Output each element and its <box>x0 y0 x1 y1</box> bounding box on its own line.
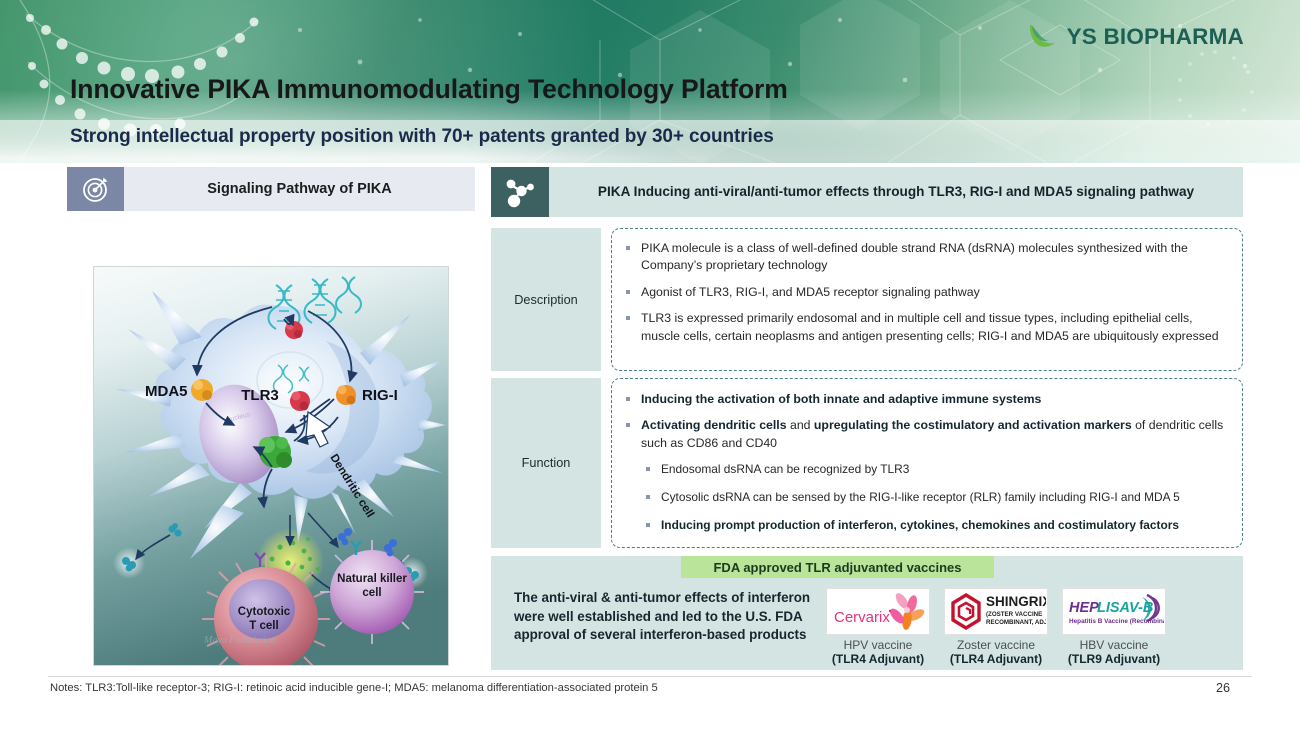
svg-text:(ZOSTER VACCINE: (ZOSTER VACCINE <box>986 611 1042 618</box>
shingrix-logo-icon: SHINGRIX (ZOSTER VACCINE RECOMBINANT, AD… <box>946 589 1046 634</box>
page-subtitle: Strong intellectual property position wi… <box>70 126 774 148</box>
left-panel-title-bar: Signaling Pathway of PIKA <box>124 167 475 211</box>
heplisav-logo: HEP LISAV-B Hepatitis B Vaccine (Recombi… <box>1062 588 1166 635</box>
diagram-label-nk-2: cell <box>362 587 381 599</box>
slide: Innovative PIKA Immunomodulating Technol… <box>0 0 1300 729</box>
molecule-icon <box>503 176 537 208</box>
page-number: 26 <box>1216 681 1230 695</box>
brand-logo: YS BIOPHARMA <box>1026 22 1244 52</box>
target-icon <box>81 174 111 204</box>
description-label: Description <box>491 228 601 371</box>
diagram-label-cytotoxic-2: T cell <box>249 620 278 632</box>
function-content: Inducing the activation of both innate a… <box>611 378 1243 548</box>
footer-notes: Notes: TLR3:Toll-like receptor-3; RIG-I:… <box>50 682 658 694</box>
svg-text:Hepatitis B Vaccine (Recombina: Hepatitis B Vaccine (Recombinant), Adjuv… <box>1069 618 1164 625</box>
header-banner: Innovative PIKA Immunomodulating Technol… <box>0 0 1300 163</box>
right-panel-title: PIKA Inducing anti-viral/anti-tumor effe… <box>598 184 1194 201</box>
heplisav-adjuvant: (TLR9 Adjuvant) <box>1068 652 1160 666</box>
description-bullet-list: PIKA molecule is a class of well-defined… <box>624 240 1228 345</box>
function-sub-bullet-1: Endosomal dsRNA can be recognized by TLR… <box>644 461 1228 478</box>
diagram-label-mda5: MDA5 <box>145 383 188 400</box>
cervarix-adjuvant: (TLR4 Adjuvant) <box>832 652 924 666</box>
molecule-icon-container <box>491 167 549 217</box>
heplisav-vaccine-name: HBV vaccine <box>1080 638 1149 652</box>
left-panel-header: Signaling Pathway of PIKA <box>67 167 475 211</box>
description-bullet-2: Agonist of TLR3, RIG-I, and MDA5 recepto… <box>624 284 1228 301</box>
function-row: Function Inducing the activation of both… <box>491 378 1243 548</box>
dendritic-cell-illustration: nucleus <box>94 267 448 665</box>
vaccine-list: Cervarix HPV vaccine (TLR4 Adjuvant) SHI… <box>826 588 1166 666</box>
svg-text:SHINGRIX: SHINGRIX <box>986 594 1046 609</box>
function-sub-bullet-3: Inducing prompt production of interferon… <box>644 517 1228 534</box>
brand-name: YS BIOPHARMA <box>1067 24 1244 50</box>
diagram-label-cytotoxic-1: Cytotoxic <box>238 606 291 618</box>
svg-text:RECOMBINANT, ADJUVANTED): RECOMBINANT, ADJUVANTED) <box>986 619 1046 626</box>
svg-text:Mayo Foundation: Mayo Foundation <box>203 635 276 646</box>
shingrix-adjuvant: (TLR4 Adjuvant) <box>950 652 1042 666</box>
right-panel-title-bar: PIKA Inducing anti-viral/anti-tumor effe… <box>549 167 1243 217</box>
heplisav-logo-icon: HEP LISAV-B Hepatitis B Vaccine (Recombi… <box>1064 589 1164 634</box>
svg-text:HEP: HEP <box>1069 600 1099 616</box>
cervarix-logo: Cervarix <box>826 588 930 635</box>
fda-tag: FDA approved TLR adjuvanted vaccines <box>681 556 994 578</box>
function-bullet-2: Activating dendritic cells and upregulat… <box>624 417 1228 452</box>
footer-divider <box>48 676 1252 677</box>
target-icon-container <box>67 167 124 211</box>
fda-statement: The anti-viral & anti-tumor effects of i… <box>514 589 814 645</box>
vaccine-item-heplisav: HEP LISAV-B Hepatitis B Vaccine (Recombi… <box>1062 588 1166 666</box>
left-panel-title: Signaling Pathway of PIKA <box>207 181 392 197</box>
function-bullet-list: Inducing the activation of both innate a… <box>624 391 1228 452</box>
page-title: Innovative PIKA Immunomodulating Technol… <box>70 74 788 105</box>
diagram-label-nk-1: Natural killer <box>337 573 407 585</box>
function-sub-bullet-2: Cytosolic dsRNA can be sensed by the RIG… <box>644 489 1228 506</box>
leaf-logo-icon <box>1026 22 1058 52</box>
right-panel-header: PIKA Inducing anti-viral/anti-tumor effe… <box>491 167 1243 217</box>
diagram-label-tlr3: TLR3 <box>241 387 279 404</box>
description-content: PIKA molecule is a class of well-defined… <box>611 228 1243 371</box>
function-sub-bullet-list: Endosomal dsRNA can be recognized by TLR… <box>644 461 1228 534</box>
shingrix-vaccine-name: Zoster vaccine <box>957 638 1035 652</box>
cervarix-vaccine-name: HPV vaccine <box>844 638 913 652</box>
vaccine-item-cervarix: Cervarix HPV vaccine (TLR4 Adjuvant) <box>826 588 930 666</box>
function-bullet-1: Inducing the activation of both innate a… <box>624 391 1228 408</box>
fda-tag-label: FDA approved TLR adjuvanted vaccines <box>713 560 961 575</box>
diagram-label-rigi: RIG-I <box>362 387 398 404</box>
shingrix-logo: SHINGRIX (ZOSTER VACCINE RECOMBINANT, AD… <box>944 588 1048 635</box>
signaling-pathway-diagram: nucleus <box>93 266 449 666</box>
svg-text:Cervarix: Cervarix <box>834 609 890 626</box>
vaccine-item-shingrix: SHINGRIX (ZOSTER VACCINE RECOMBINANT, AD… <box>944 588 1048 666</box>
function-label: Function <box>491 378 601 548</box>
description-row: Description PIKA molecule is a class of … <box>491 228 1243 371</box>
cervarix-logo-icon: Cervarix <box>828 589 928 634</box>
description-bullet-3: TLR3 is expressed primarily endosomal an… <box>624 310 1228 345</box>
svg-text:LISAV-B: LISAV-B <box>1097 600 1153 616</box>
description-bullet-1: PIKA molecule is a class of well-defined… <box>624 240 1228 275</box>
